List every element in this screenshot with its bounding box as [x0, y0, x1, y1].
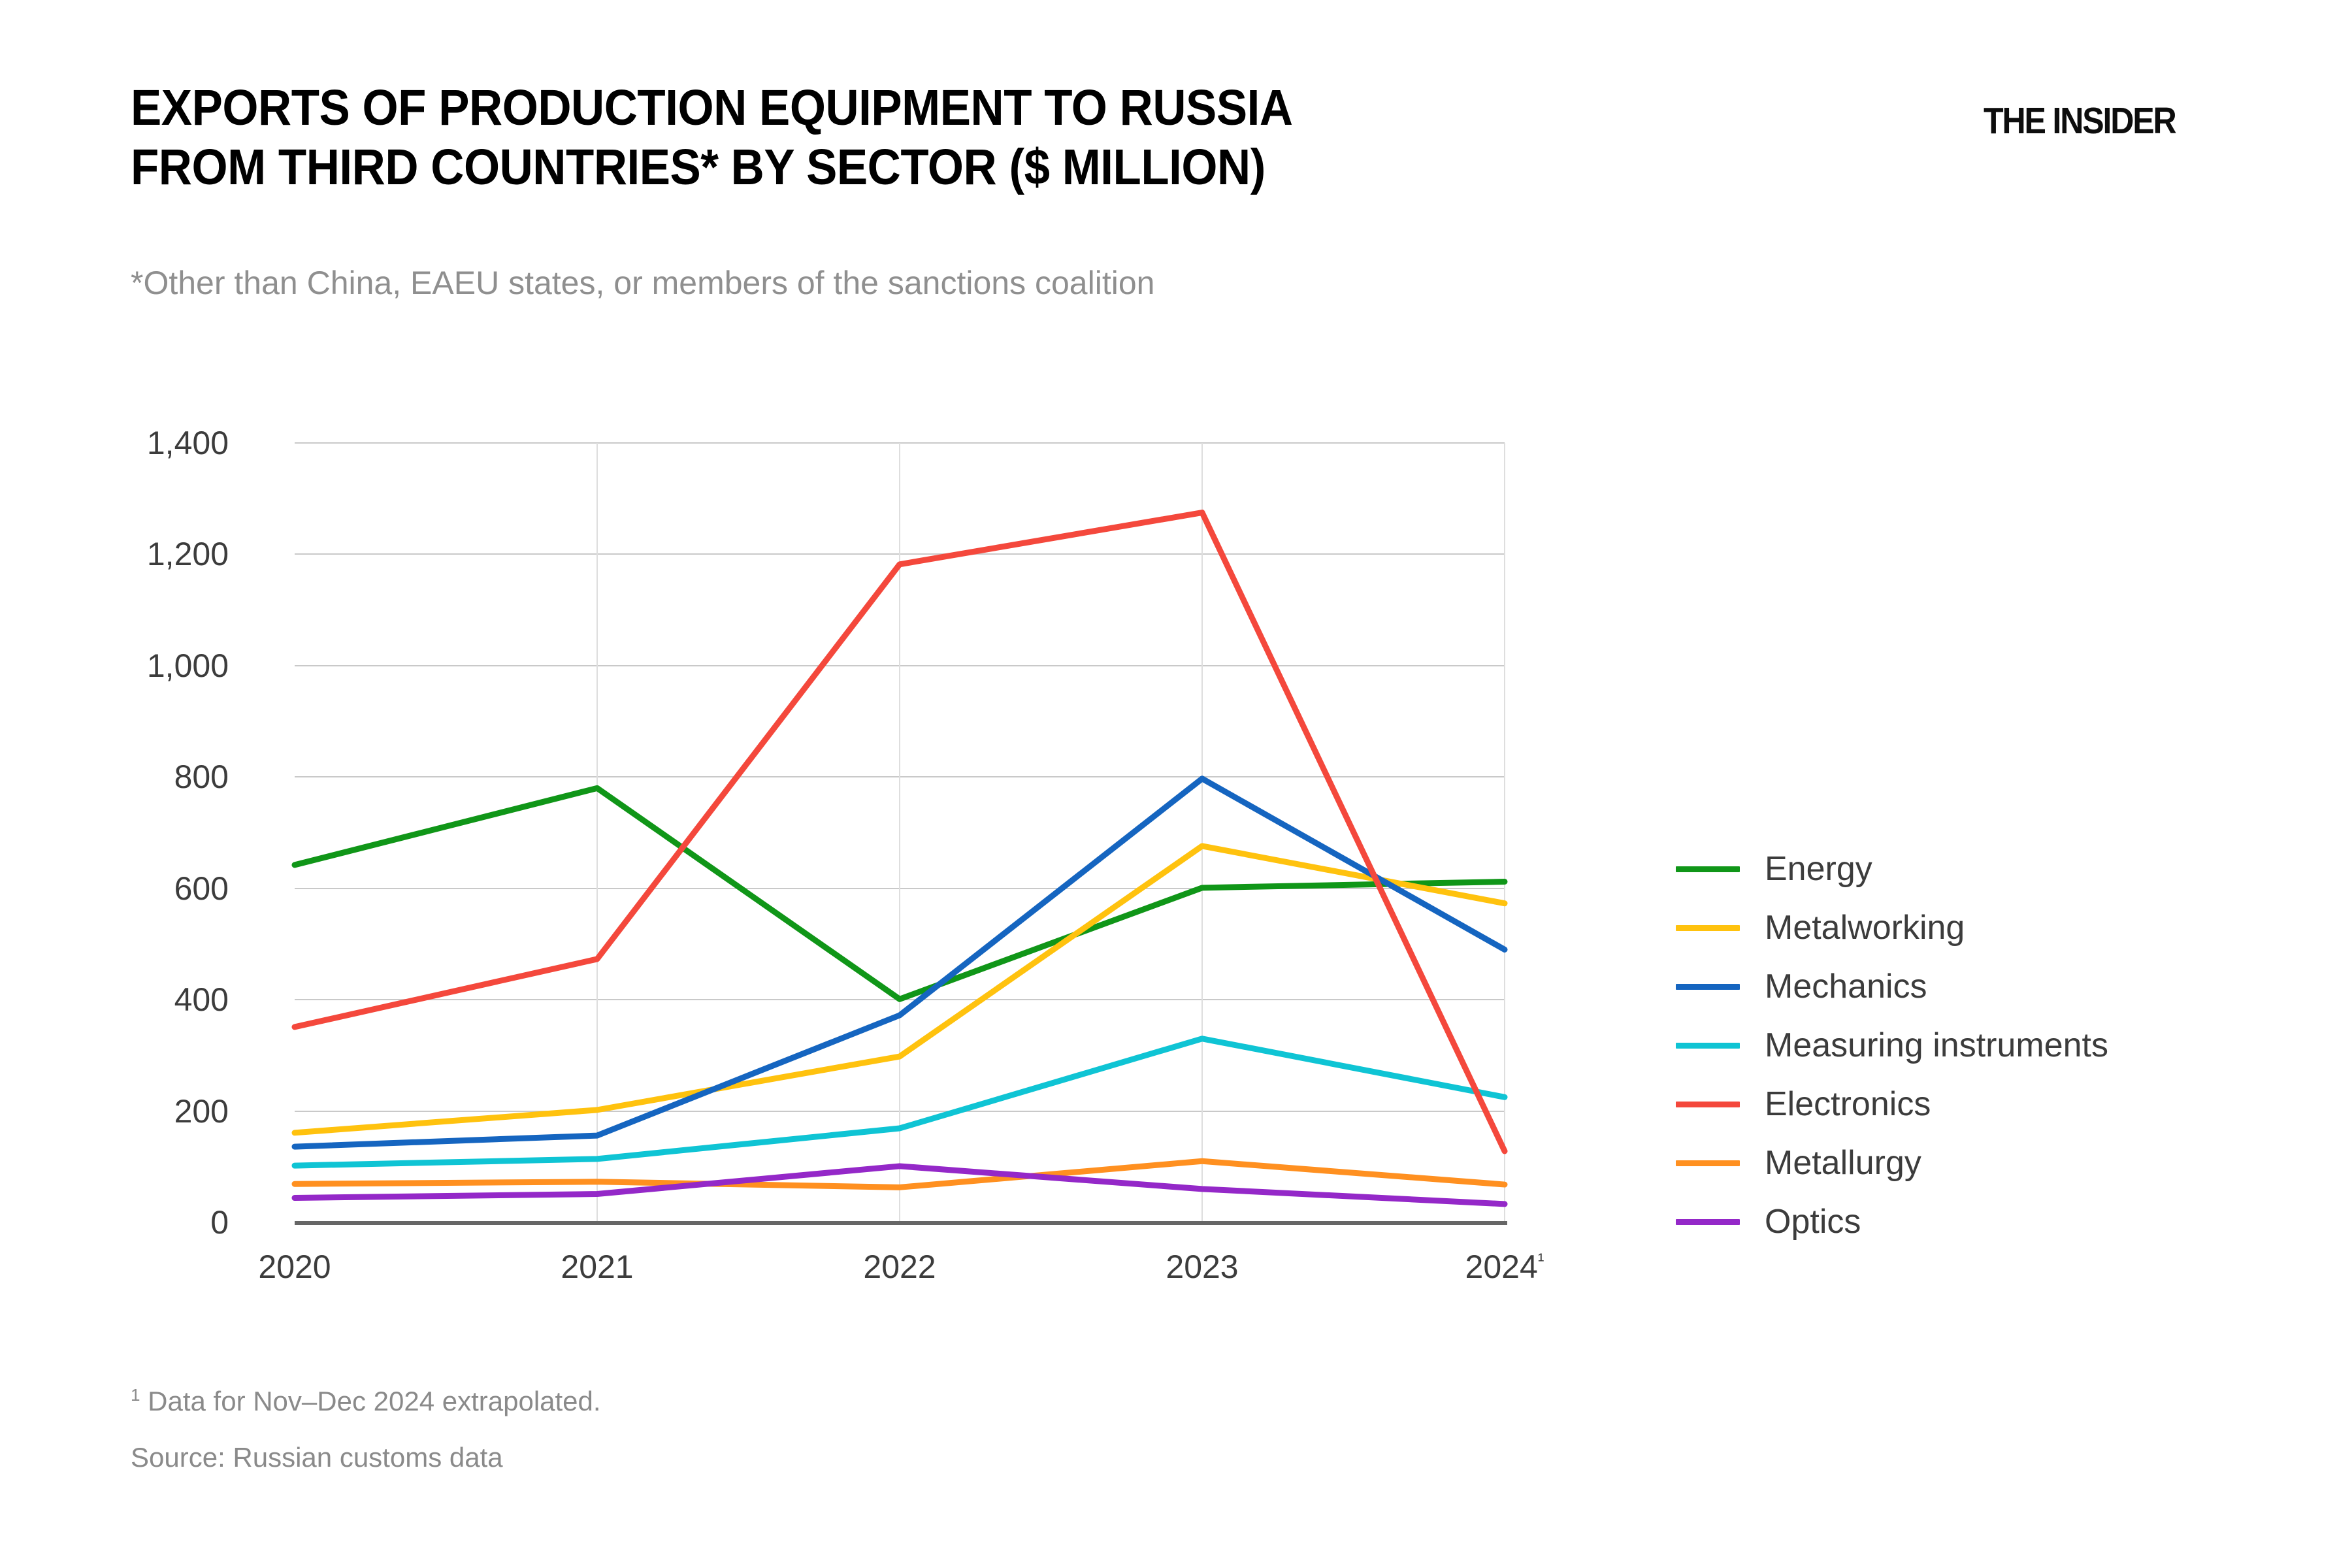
legend-item-optics[interactable]: Optics — [1676, 1192, 2108, 1251]
x-axis-tick-label: 2021 — [561, 1248, 633, 1286]
y-axis-tick-label: 1,400 — [147, 424, 229, 462]
legend-swatch-icon — [1676, 984, 1740, 990]
chart-legend: EnergyMetalworkingMechanicsMeasuring ins… — [1676, 840, 2108, 1251]
x-axis-tick-label: 2023 — [1166, 1248, 1238, 1286]
series-line-energy — [295, 788, 1505, 999]
line-chart: 02004006008001,0001,2001,400202020212022… — [0, 0, 2352, 1568]
y-axis-tick-label: 1,000 — [147, 647, 229, 685]
y-axis-tick-label: 800 — [174, 758, 229, 796]
series-line-mechanics — [295, 779, 1505, 1147]
legend-item-label: Energy — [1765, 849, 1872, 889]
y-axis-tick-label: 400 — [174, 981, 229, 1019]
legend-item-energy[interactable]: Energy — [1676, 840, 2108, 898]
footnote-source: Source: Russian customs data — [131, 1442, 601, 1473]
legend-swatch-icon — [1676, 925, 1740, 931]
legend-item-label: Metalworking — [1765, 908, 1965, 947]
legend-item-measuring-instruments[interactable]: Measuring instruments — [1676, 1016, 2108, 1075]
footnote-text: Data for Nov–Dec 2024 extrapolated. — [140, 1386, 600, 1416]
footnote-extrapolation: 1 Data for Nov–Dec 2024 extrapolated. — [131, 1385, 601, 1417]
legend-item-label: Electronics — [1765, 1085, 1931, 1124]
legend-item-label: Metallurgy — [1765, 1143, 1921, 1183]
footnotes: 1 Data for Nov–Dec 2024 extrapolated. So… — [131, 1385, 601, 1498]
legend-item-label: Measuring instruments — [1765, 1026, 2108, 1065]
legend-item-electronics[interactable]: Electronics — [1676, 1075, 2108, 1134]
legend-swatch-icon — [1676, 1219, 1740, 1225]
series-line-metalworking — [295, 846, 1505, 1133]
legend-item-metallurgy[interactable]: Metallurgy — [1676, 1134, 2108, 1192]
legend-swatch-icon — [1676, 1043, 1740, 1049]
legend-item-mechanics[interactable]: Mechanics — [1676, 957, 2108, 1016]
y-axis-tick-label: 200 — [174, 1092, 229, 1130]
legend-swatch-icon — [1676, 1102, 1740, 1107]
legend-item-label: Mechanics — [1765, 967, 1927, 1006]
footnote-marker: 1 — [131, 1385, 140, 1405]
legend-swatch-icon — [1676, 1160, 1740, 1166]
y-axis-tick-label: 0 — [210, 1203, 229, 1241]
series-lines — [295, 443, 1505, 1222]
y-axis-tick-label: 1,200 — [147, 535, 229, 573]
y-axis-tick-label: 600 — [174, 870, 229, 907]
legend-swatch-icon — [1676, 866, 1740, 872]
legend-item-label: Optics — [1765, 1202, 1861, 1241]
legend-item-metalworking[interactable]: Metalworking — [1676, 898, 2108, 957]
x-axis-tick-label: 2022 — [863, 1248, 936, 1286]
x-axis-tick-label: 2020 — [258, 1248, 331, 1286]
x-axis-tick-label: 2024¹ — [1465, 1248, 1544, 1286]
